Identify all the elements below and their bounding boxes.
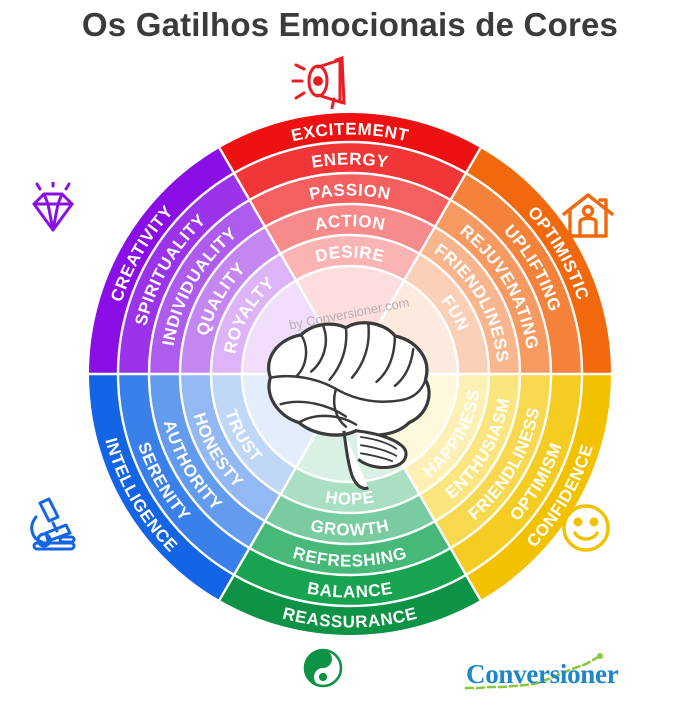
wheel-svg: EXCITEMENTENERGYPASSIONACTIONDESIREOPTIM… — [0, 0, 700, 700]
brand-logo[interactable]: Conversioner — [460, 650, 650, 701]
ring-label-red-1: ENERGY — [310, 149, 390, 171]
microscope-icon — [22, 495, 84, 558]
diamond-icon — [22, 182, 84, 247]
house-icon — [560, 190, 618, 249]
color-emotion-wheel: EXCITEMENTENERGYPASSIONACTIONDESIREOPTIM… — [0, 0, 700, 700]
yinyang-icon — [300, 645, 346, 696]
ring-label-green-4: HOPE — [324, 487, 376, 508]
smiley-icon — [558, 500, 614, 561]
brand-name: Conversioner — [466, 659, 619, 689]
megaphone-icon — [290, 55, 350, 114]
